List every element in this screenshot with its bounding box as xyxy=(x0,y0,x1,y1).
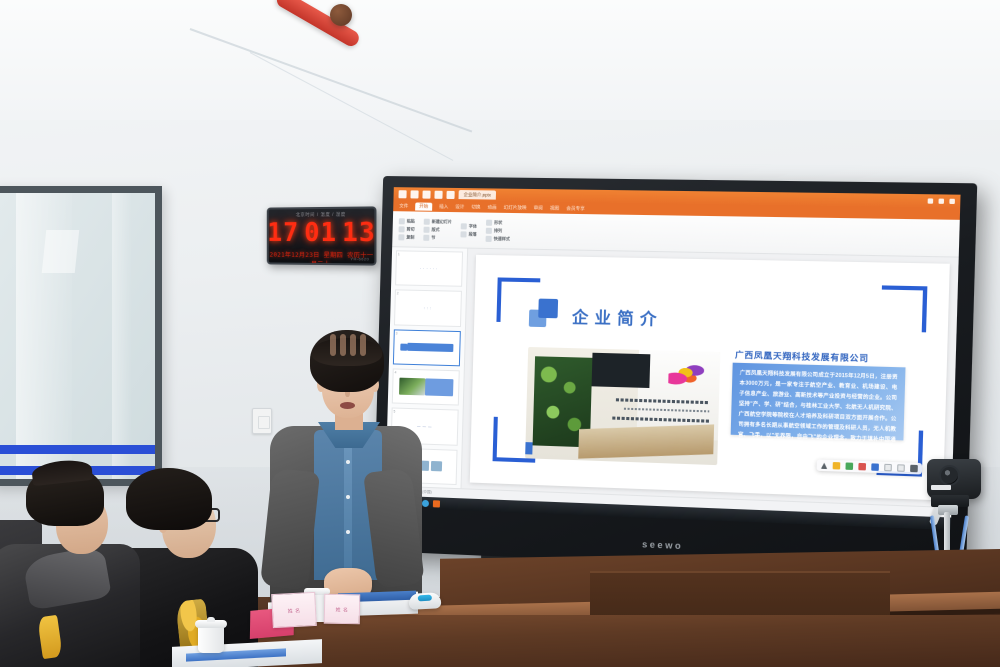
tab-file[interactable]: 文件 xyxy=(399,203,408,209)
font-icon xyxy=(461,223,467,229)
mouse-scroll-wheel-icon[interactable] xyxy=(418,595,432,602)
whiteboard-reflection xyxy=(42,230,80,273)
office-lobby-photo xyxy=(525,347,720,465)
more-icon[interactable] xyxy=(910,465,918,473)
clock-brand-label: YH-6620 xyxy=(350,256,369,261)
slide-footer-accent xyxy=(525,442,532,454)
copy-icon xyxy=(398,234,404,240)
tab-home[interactable]: 开始 xyxy=(415,202,432,210)
slide-body-textbox: 广西凤凰天翔科技发展有限公司成立于2015年12月5日，注册资本3000万元，是… xyxy=(731,363,906,441)
slide-thumbnail-2[interactable]: 2 : : : xyxy=(394,290,462,327)
ceiling xyxy=(0,0,1000,120)
presenter-finger xyxy=(340,334,346,356)
wps-document-tab[interactable]: 企业简介.pptx xyxy=(458,190,496,200)
tab-insert[interactable]: 插入 xyxy=(439,203,448,209)
paste-button[interactable]: 粘贴 xyxy=(399,218,415,224)
save-icon[interactable] xyxy=(410,190,418,198)
thumbnail-text-block xyxy=(424,379,453,397)
cut-icon xyxy=(399,226,405,232)
layout-icon xyxy=(423,226,429,232)
tab-review[interactable]: 审阅 xyxy=(534,205,543,211)
window-controls[interactable] xyxy=(928,198,955,204)
presenter-finger xyxy=(360,334,366,356)
tab-member[interactable]: 会员专享 xyxy=(566,205,585,211)
eraser-icon[interactable] xyxy=(858,463,866,471)
tab-slideshow[interactable]: 幻灯片放映 xyxy=(504,204,527,210)
arrange-button[interactable]: 排列 xyxy=(486,227,510,233)
computer-mouse[interactable] xyxy=(409,592,442,610)
shapes-button[interactable]: 形状 xyxy=(486,219,510,225)
camera-label-strip xyxy=(931,485,951,490)
slide-thumbnail-1[interactable]: 1 · · · · · · xyxy=(395,250,463,287)
ribbon-group-clipboard: 粘贴 剪切 复制 xyxy=(398,218,415,240)
new-slide-icon xyxy=(424,218,430,224)
paste-icon xyxy=(399,218,405,224)
thumbnail-bullet-text: : : : xyxy=(424,306,432,310)
wps-app-icon xyxy=(399,190,407,198)
clock-time-display: 17 01 13 xyxy=(269,220,375,247)
display-brand-label: seewo xyxy=(642,539,683,551)
shirt-button-icon xyxy=(346,460,350,464)
font-button[interactable]: 字体 xyxy=(461,223,477,229)
tab-design[interactable]: 设计 xyxy=(455,204,464,210)
print-icon[interactable] xyxy=(446,190,454,198)
arrange-icon xyxy=(486,227,492,233)
slide-body-text: 广西凤凰天翔科技发展有限公司成立于2015年12月5日，注册资本3000万元，是… xyxy=(738,369,898,456)
keyboard-icon[interactable] xyxy=(897,464,905,472)
minimize-icon[interactable] xyxy=(928,198,934,203)
app-icon[interactable] xyxy=(433,500,440,507)
ribbon-group-slides: 新建幻灯片 版式 节 xyxy=(423,218,452,241)
name-card-2: 姓 名 xyxy=(324,594,361,625)
ribbon-group-font: 字体 段落 xyxy=(460,223,477,237)
close-icon[interactable] xyxy=(949,199,955,204)
presenter-shirt-placket xyxy=(344,434,352,574)
shapes-icon xyxy=(486,219,492,225)
camera-lens-icon xyxy=(939,465,960,486)
ribbon-group-drawing: 形状 排列 快速样式 xyxy=(486,219,511,242)
paragraph-icon xyxy=(460,231,466,237)
paragraph-button[interactable]: 段落 xyxy=(460,231,476,237)
cut-button[interactable]: 剪切 xyxy=(399,226,415,232)
clock-hours: 17 xyxy=(267,220,299,246)
thumbnail-number: 1 xyxy=(398,252,400,256)
highlighter-icon[interactable] xyxy=(845,462,853,470)
slide-decor-icon xyxy=(529,298,558,327)
presenter-finger xyxy=(330,334,336,356)
wps-office-window[interactable]: 企业简介.pptx 文件 开始 插入 设计 切换 动画 幻灯片放映 xyxy=(385,187,961,530)
slide-title: 企业简介 xyxy=(572,303,664,330)
section-icon xyxy=(423,234,429,240)
tab-view[interactable]: 视图 xyxy=(550,205,559,211)
display-screen[interactable]: 企业简介.pptx 文件 开始 插入 设计 切换 动画 幻灯片放映 xyxy=(385,187,961,530)
section-button[interactable]: 节 xyxy=(423,234,451,241)
glass-whiteboard xyxy=(0,186,162,486)
maximize-icon[interactable] xyxy=(938,199,944,204)
whiteboard-sheen-2 xyxy=(112,193,132,479)
name-card-text: 姓 名 xyxy=(335,606,348,613)
thumbnail-number: 2 xyxy=(397,292,399,296)
corner-bracket-top-right xyxy=(881,285,928,332)
pen-icon[interactable] xyxy=(833,462,841,470)
name-card-1: 姓 名 xyxy=(271,592,317,628)
cursor-icon[interactable] xyxy=(821,462,828,468)
undo-icon[interactable] xyxy=(422,190,430,198)
photo-reception-desk xyxy=(578,424,714,458)
shape-icon[interactable] xyxy=(871,463,879,471)
copy-button[interactable]: 复制 xyxy=(398,234,414,240)
decor-square-dark-icon xyxy=(538,299,558,319)
seewo-interactive-flat-panel[interactable]: seewo 企业简介.pptx xyxy=(373,176,977,577)
presenter-mouth xyxy=(340,402,355,409)
tab-transitions[interactable]: 切换 xyxy=(471,204,480,210)
presenter-hair-fringe xyxy=(312,338,382,366)
presenter-finger xyxy=(350,334,356,356)
shirt-button-icon xyxy=(346,495,350,499)
shirt-button-icon xyxy=(346,530,350,534)
quick-styles-button[interactable]: 快速样式 xyxy=(486,235,510,241)
photo-phoenix-logo-icon xyxy=(668,364,704,386)
screenshot-icon[interactable] xyxy=(884,464,892,472)
classroom-scene: 北京时间 / 温度 / 湿度 17 01 13 2021年12月23日 星期四 … xyxy=(0,0,1000,667)
photo-dark-ceiling xyxy=(592,353,651,388)
new-slide-button[interactable]: 新建幻灯片 xyxy=(424,218,452,224)
ptz-camera xyxy=(927,459,981,499)
name-card-text: 姓 名 xyxy=(287,607,300,615)
tab-animations[interactable]: 动画 xyxy=(487,204,496,210)
clock-minutes: 01 xyxy=(304,220,337,246)
student-left xyxy=(4,466,144,667)
thumbnail-title-text: · · · · · · xyxy=(420,266,438,270)
slide-company-name: 广西凤凰天翔科技发展有限公司 xyxy=(735,348,884,364)
quick-styles-icon xyxy=(486,235,492,241)
flag-pole-cap-icon xyxy=(330,4,352,26)
redo-icon[interactable] xyxy=(434,190,442,198)
led-wall-clock: 北京时间 / 温度 / 湿度 17 01 13 2021年12月23日 星期四 … xyxy=(267,206,377,265)
whiteboard-stripe-top xyxy=(0,445,155,454)
teacup-lid-knob xyxy=(207,617,215,622)
layout-button[interactable]: 版式 xyxy=(423,226,451,233)
presenter xyxy=(252,330,424,620)
lidded-teacup xyxy=(198,625,224,653)
clock-seconds: 13 xyxy=(342,220,376,247)
